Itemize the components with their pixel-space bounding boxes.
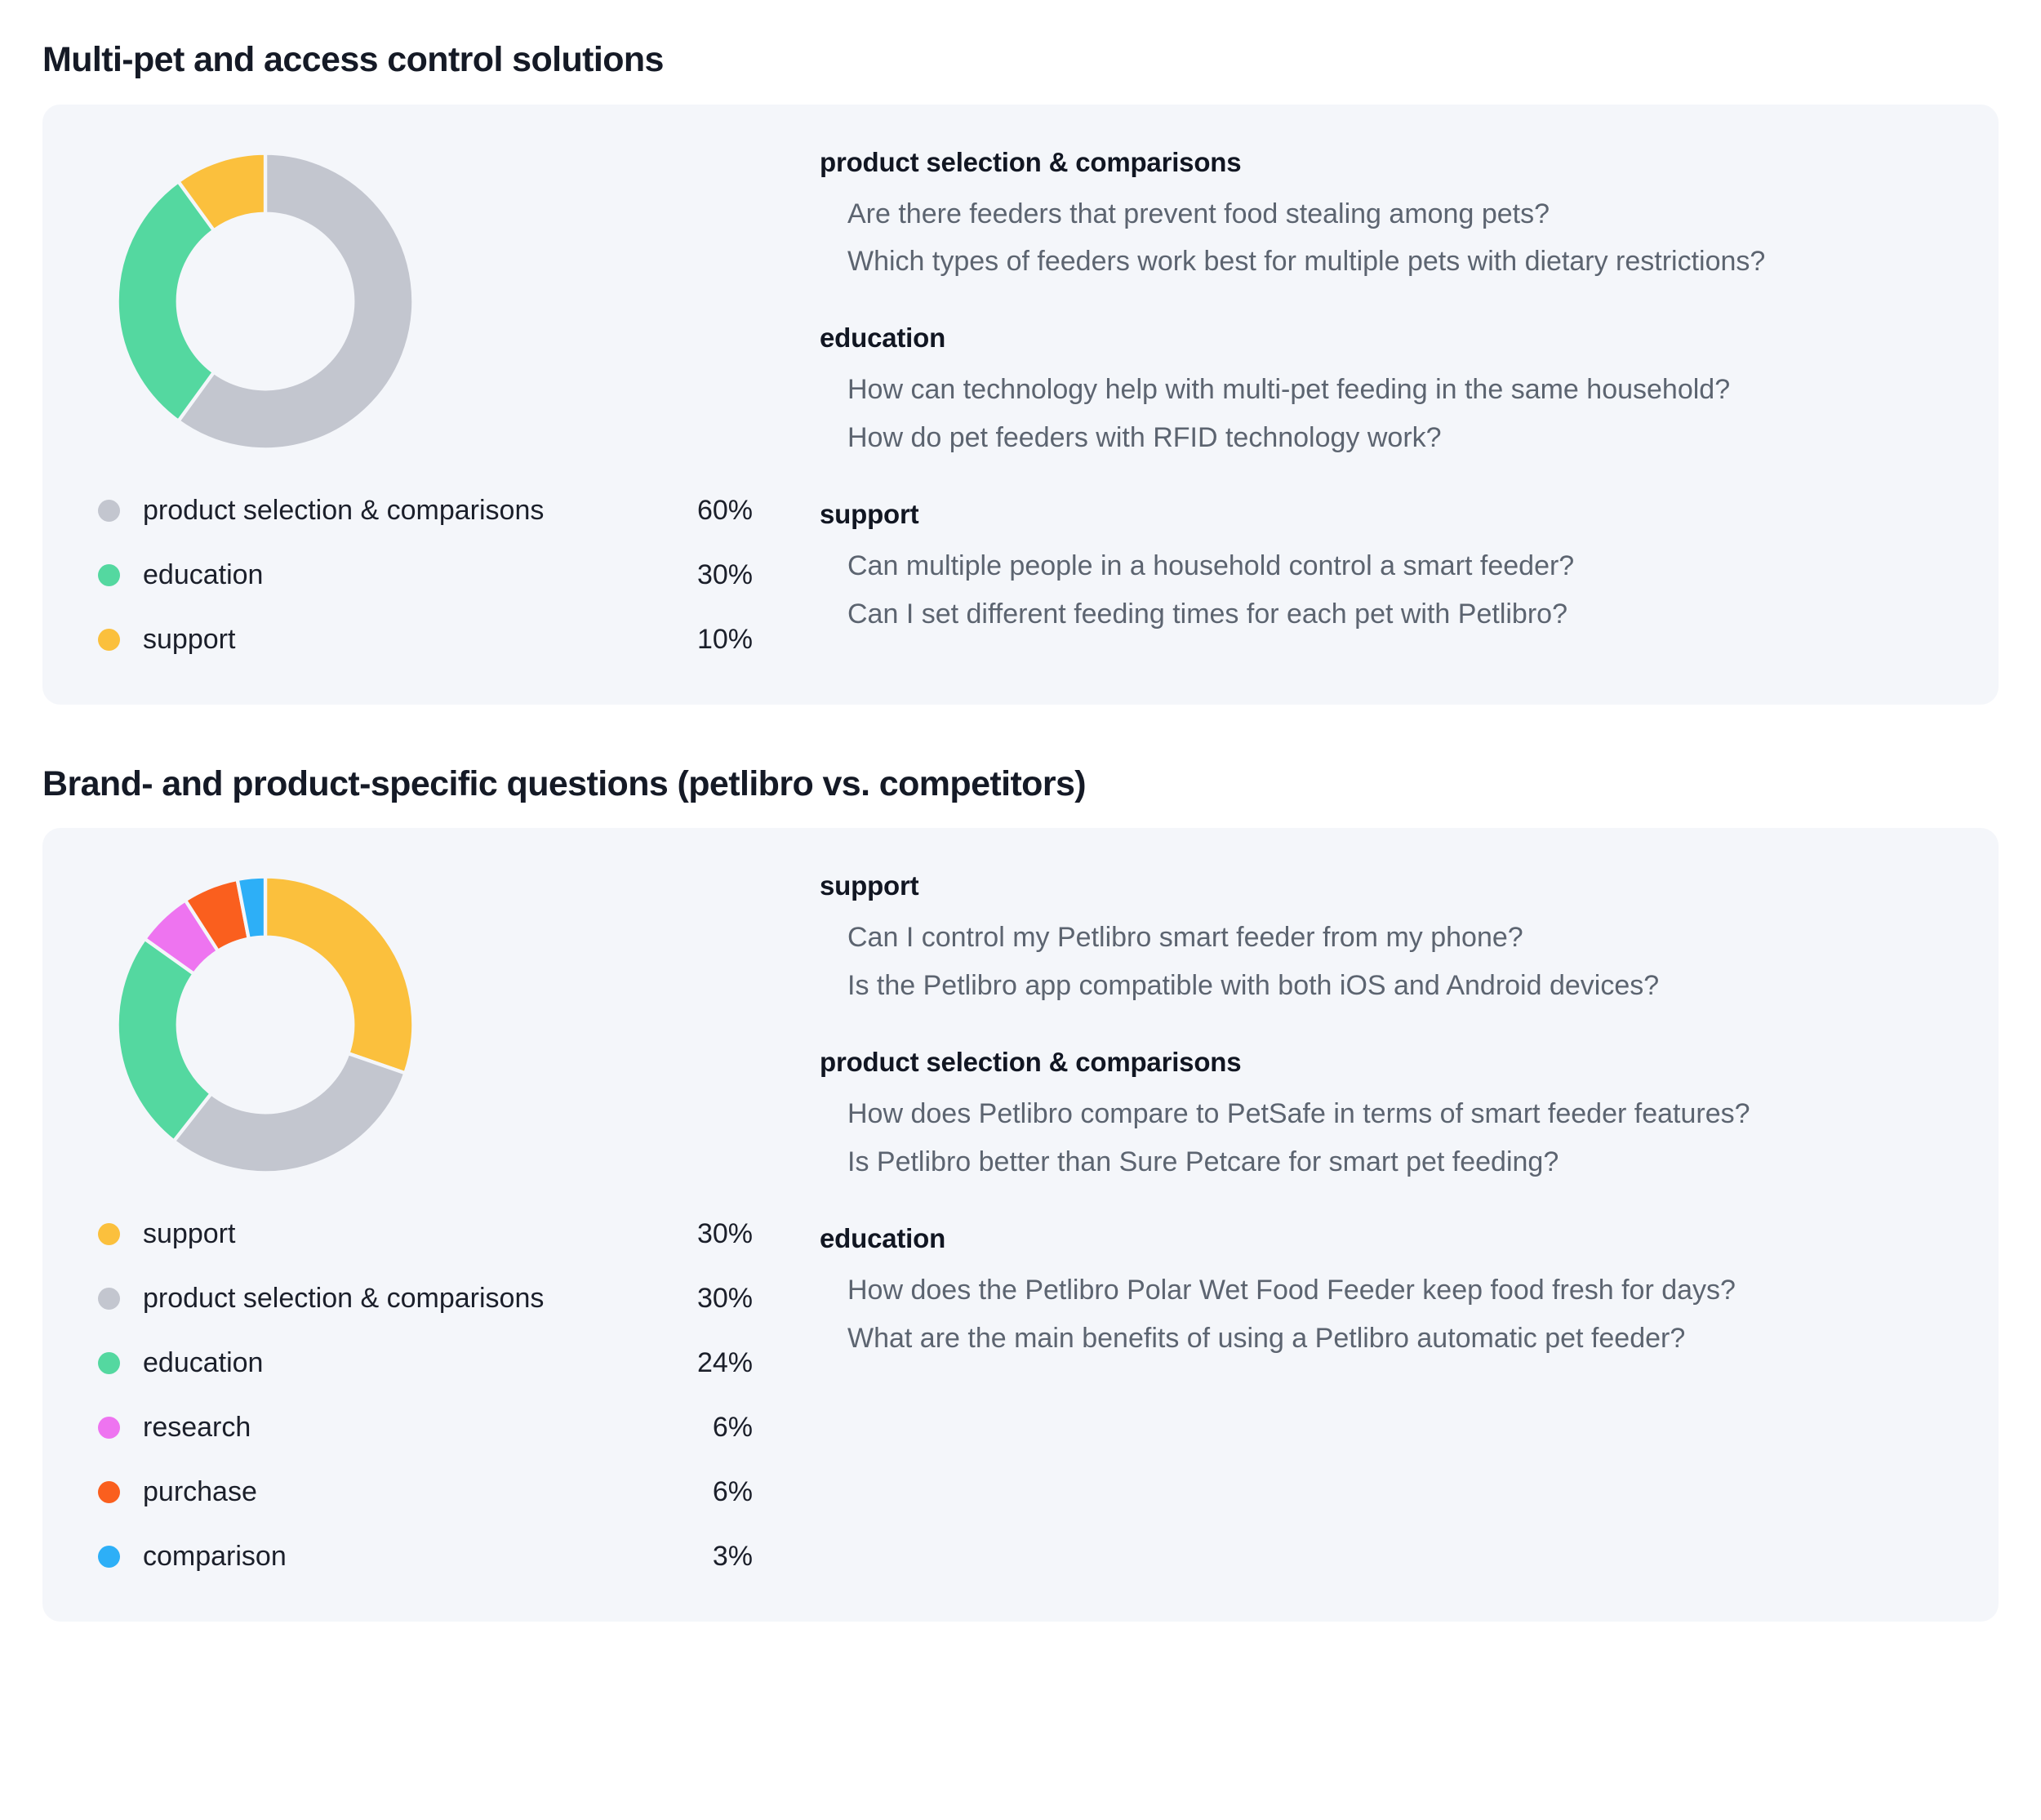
question-group: education How can technology help with m… [820,323,1966,456]
legend-color-swatch-icon [98,1417,120,1439]
chart-panel: support 30% product selection & comparis… [75,856,802,1589]
chart-legend: support 30% product selection & comparis… [83,1202,769,1589]
donut-chart-svg [106,142,425,461]
question-group: support Can I control my Petlibro smart … [820,870,1966,1004]
legend-color-swatch-icon [98,629,120,651]
donut-slices [118,153,414,449]
legend-item[interactable]: product selection & comparisons 30% [98,1266,769,1331]
legend-item[interactable]: education 24% [98,1331,769,1395]
legend-item[interactable]: product selection & comparisons 60% [98,478,769,543]
page-title: Brand- and product-specific questions (p… [42,763,1999,806]
donut-slices [118,877,414,1173]
question-item: Can I control my Petlibro smart feeder f… [847,919,1966,956]
topic-card: support 30% product selection & comparis… [42,828,1999,1622]
page-title: Multi-pet and access control solutions [42,39,1999,82]
question-group-title: product selection & comparisons [820,147,1966,178]
question-item: Is Petlibro better than Sure Petcare for… [847,1144,1966,1181]
donut-chart-svg [106,866,425,1184]
legend-item-label: support [143,1218,647,1250]
legend-color-swatch-icon [98,1481,120,1503]
page-root: Multi-pet and access control solutions p… [0,0,2041,1622]
donut-chart [106,142,425,461]
question-item: How does Petlibro compare to PetSafe in … [847,1096,1966,1132]
question-group-title: product selection & comparisons [820,1047,1966,1078]
legend-item-value: 6% [647,1476,769,1508]
question-group-title: support [820,870,1966,901]
question-item: How does the Petlibro Polar Wet Food Fee… [847,1272,1966,1309]
chart-panel: product selection & comparisons 60% educ… [75,132,802,672]
legend-item-label: purchase [143,1476,647,1508]
question-group: education How does the Petlibro Polar We… [820,1223,1966,1357]
donut-slice[interactable] [265,877,413,1074]
legend-color-swatch-icon [98,1288,120,1310]
legend-item-label: research [143,1412,647,1444]
legend-item[interactable]: comparison 3% [98,1524,769,1589]
legend-color-swatch-icon [98,1352,120,1374]
question-group: support Can multiple people in a househo… [820,499,1966,633]
chart-legend: product selection & comparisons 60% educ… [83,478,769,672]
donut-slice[interactable] [174,1053,405,1173]
questions-panel: product selection & comparisons Are ther… [802,132,1966,633]
legend-item-value: 30% [647,559,769,591]
legend-item-label: support [143,624,647,656]
question-item: Are there feeders that prevent food stea… [847,196,1966,233]
question-item: Which types of feeders work best for mul… [847,243,1966,280]
legend-item[interactable]: purchase 6% [98,1460,769,1524]
legend-item-value: 6% [647,1412,769,1444]
legend-color-swatch-icon [98,500,120,522]
legend-item-value: 30% [647,1218,769,1250]
legend-color-swatch-icon [98,1223,120,1245]
legend-item-value: 30% [647,1283,769,1315]
question-group-title: support [820,499,1966,530]
legend-item[interactable]: support 10% [98,607,769,672]
legend-item[interactable]: education 30% [98,543,769,607]
question-group: product selection & comparisons How does… [820,1047,1966,1181]
question-group: product selection & comparisons Are ther… [820,147,1966,281]
question-group-title: education [820,323,1966,354]
question-item: How do pet feeders with RFID technology … [847,420,1966,456]
question-item: What are the main benefits of using a Pe… [847,1320,1966,1357]
legend-item-label: education [143,559,647,591]
legend-item-label: comparison [143,1541,647,1573]
donut-chart [106,866,425,1184]
legend-item[interactable]: support 30% [98,1202,769,1266]
donut-slice[interactable] [118,181,214,421]
question-item: Is the Petlibro app compatible with both… [847,968,1966,1004]
question-item: Can multiple people in a household contr… [847,548,1966,585]
legend-item-label: product selection & comparisons [143,495,647,527]
legend-item-value: 24% [647,1347,769,1379]
questions-panel: support Can I control my Petlibro smart … [802,856,1966,1356]
topic-card: product selection & comparisons 60% educ… [42,105,1999,705]
question-item: Can I set different feeding times for ea… [847,596,1966,633]
question-group-title: education [820,1223,1966,1254]
legend-color-swatch-icon [98,1546,120,1568]
legend-item-value: 3% [647,1541,769,1573]
legend-item-value: 10% [647,624,769,656]
legend-item-label: education [143,1347,647,1379]
question-item: How can technology help with multi-pet f… [847,372,1966,408]
legend-color-swatch-icon [98,564,120,586]
legend-item-value: 60% [647,495,769,527]
legend-item[interactable]: research 6% [98,1395,769,1460]
legend-item-label: product selection & comparisons [143,1283,647,1315]
